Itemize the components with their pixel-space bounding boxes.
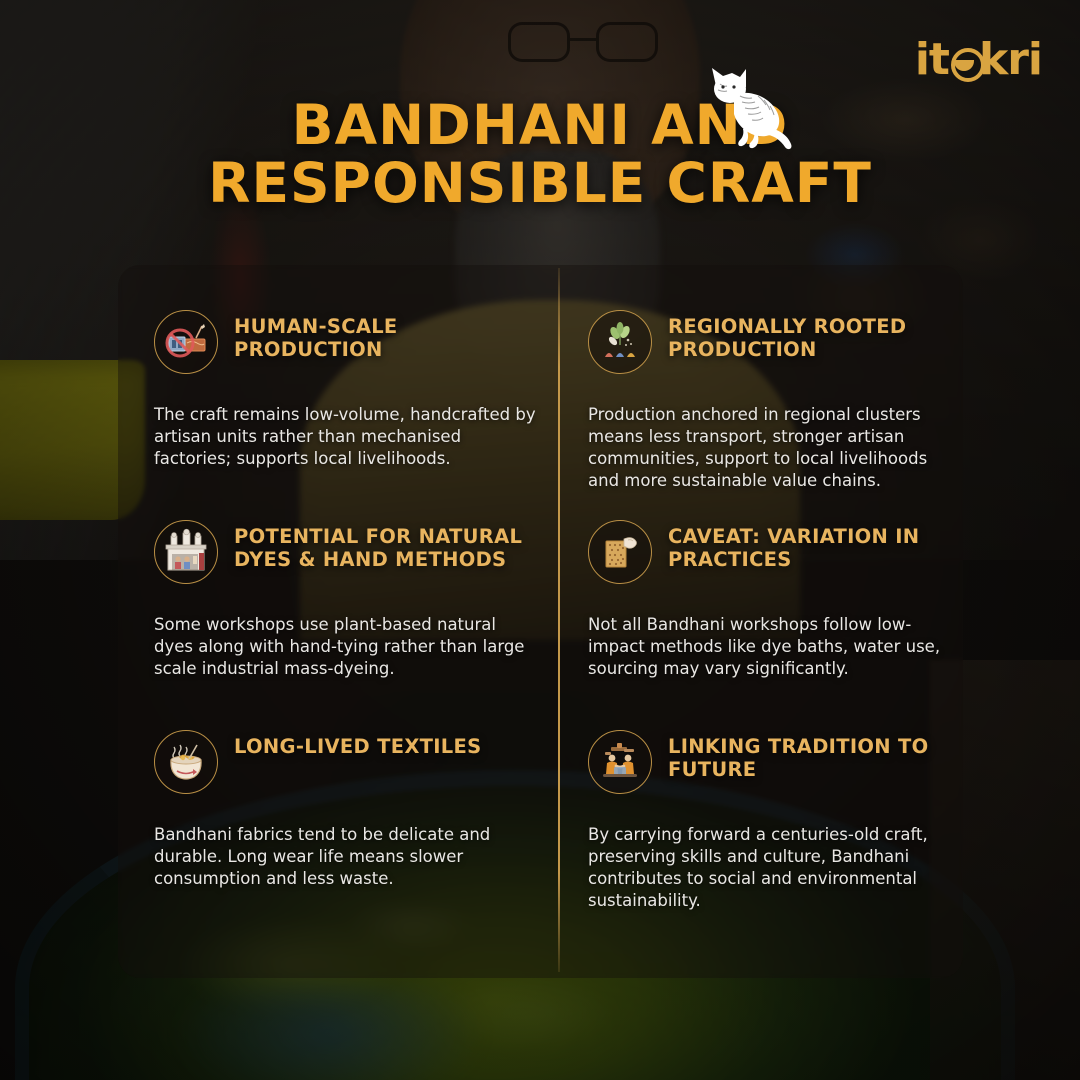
feature-title: POTENTIAL FOR NATURAL DYES & HAND METHOD… xyxy=(234,520,536,571)
feature-header: CAVEAT: VARIATION IN PRACTICES xyxy=(588,520,949,584)
feature-header: LINKING TRADITION TO FUTURE xyxy=(588,730,949,794)
two-artisans-working-icon xyxy=(588,730,652,794)
hand-holding-patterned-fabric-icon xyxy=(588,520,652,584)
feature-header: POTENTIAL FOR NATURAL DYES & HAND METHOD… xyxy=(154,520,536,584)
feature-title: LONG-LIVED TEXTILES xyxy=(234,730,482,759)
feature-header: HUMAN-SCALE PRODUCTION xyxy=(154,310,536,374)
feature-card-natural-dyes-hand-methods[interactable]: POTENTIAL FOR NATURAL DYES & HAND METHOD… xyxy=(118,520,558,730)
feature-header: REGIONALLY ROOTED PRODUCTION xyxy=(588,310,949,374)
infographic-canvas: itkri BANDHANI AND RESPONSIBLE CRAFT xyxy=(0,0,1080,1080)
feature-title: LINKING TRADITION TO FUTURE xyxy=(668,730,949,781)
feature-title: HUMAN-SCALE PRODUCTION xyxy=(234,310,536,361)
artisan-workshop-building-icon xyxy=(154,520,218,584)
logo-text-before: it xyxy=(915,34,949,85)
feature-title: REGIONALLY ROOTED PRODUCTION xyxy=(668,310,949,361)
plant-dye-powders-icon xyxy=(588,310,652,374)
page-title-line-2: RESPONSIBLE CRAFT xyxy=(208,151,872,215)
basket-o-icon xyxy=(949,44,979,78)
feature-body: By carrying forward a centuries-old craf… xyxy=(588,824,949,912)
feature-card-long-lived-textiles[interactable]: LONG-LIVED TEXTILES Bandhani fabrics ten… xyxy=(118,730,558,960)
feature-card-linking-tradition-to-future[interactable]: LINKING TRADITION TO FUTURE By carrying … xyxy=(558,730,963,960)
feature-body: The craft remains low-volume, handcrafte… xyxy=(154,404,536,470)
feature-header: LONG-LIVED TEXTILES xyxy=(154,730,536,794)
feature-body: Bandhani fabrics tend to be delicate and… xyxy=(154,824,536,890)
feature-title: CAVEAT: VARIATION IN PRACTICES xyxy=(668,520,949,571)
no-factory-machine-icon xyxy=(154,310,218,374)
feature-card-caveat-variation-in-practices[interactable]: CAVEAT: VARIATION IN PRACTICES Not all B… xyxy=(558,520,963,730)
page-title: BANDHANI AND RESPONSIBLE CRAFT xyxy=(0,96,1080,213)
feature-body: Not all Bandhani workshops follow low-im… xyxy=(588,614,949,680)
feature-body: Some workshops use plant-based natural d… xyxy=(154,614,536,680)
feature-card-human-scale-production[interactable]: HUMAN-SCALE PRODUCTION The craft remains… xyxy=(118,310,558,520)
logo-text-after: kri xyxy=(979,34,1042,85)
feature-body: Production anchored in regional clusters… xyxy=(588,404,949,492)
page-title-line-1: BANDHANI AND xyxy=(292,93,789,157)
feature-grid: HUMAN-SCALE PRODUCTION The craft remains… xyxy=(118,265,963,978)
feature-card-regionally-rooted-production[interactable]: REGIONALLY ROOTED PRODUCTION Production … xyxy=(558,310,963,520)
steaming-dye-pot-icon xyxy=(154,730,218,794)
brand-logo[interactable]: itkri xyxy=(915,38,1042,82)
